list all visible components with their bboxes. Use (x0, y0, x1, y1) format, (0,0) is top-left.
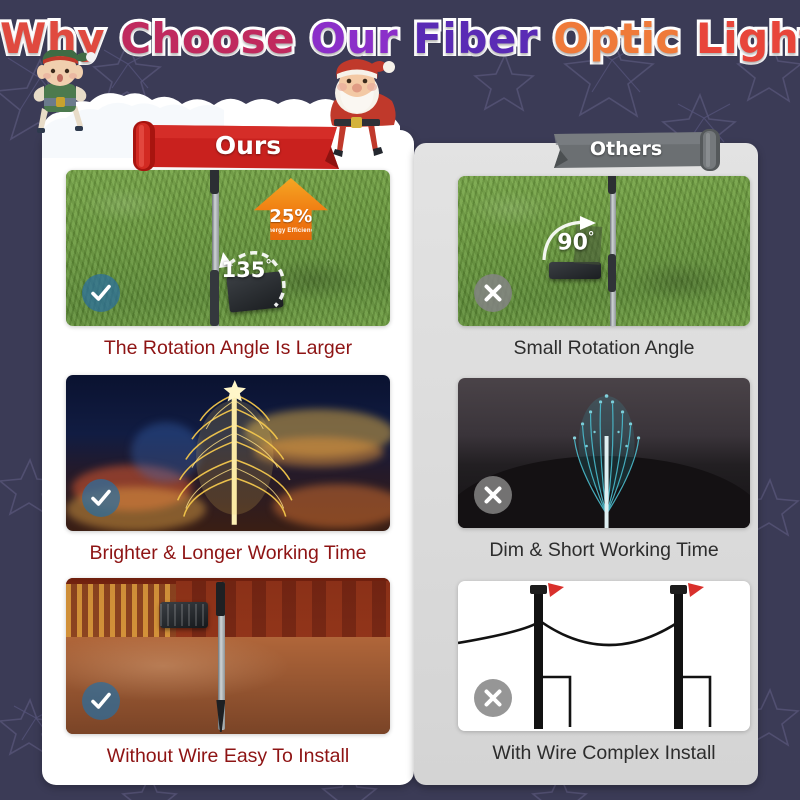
energy-percent-label: 25% (269, 208, 312, 226)
ours-row-2-photo (66, 375, 390, 531)
others-row-1-caption: Small Rotation Angle (458, 337, 750, 360)
title-space (398, 10, 413, 68)
title-space (681, 10, 696, 68)
others-row-3-caption: With Wire Complex Install (458, 742, 750, 765)
others-row-2-caption: Dim & Short Working Time (458, 539, 750, 562)
ours-angle-label: 135° (222, 258, 272, 282)
x-icon (481, 483, 505, 507)
ours-row-2: Brighter & Longer Working Time (66, 375, 390, 565)
ours-row-1-caption: The Rotation Angle Is Larger (66, 337, 390, 360)
fiber-tree-icon (157, 378, 313, 531)
x-badge (474, 476, 512, 514)
title-space (295, 10, 310, 68)
ours-row-1-photo: 135° 25% Energy Efficiency (66, 170, 390, 326)
others-row-1: 90° Small Rotation Angle (458, 176, 750, 360)
check-icon (89, 281, 113, 305)
others-banner-ribbon-icon (538, 126, 728, 172)
title-word: Optic (553, 10, 681, 68)
others-row-2: Dim & Short Working Time (458, 378, 750, 562)
solar-cell-lines (160, 604, 208, 626)
elf-character-icon (28, 50, 102, 150)
ours-row-2-caption: Brighter & Longer Working Time (66, 542, 390, 565)
check-badge (82, 682, 120, 720)
santa-character-icon (318, 57, 396, 161)
others-angle-label: 90° (557, 230, 594, 255)
x-icon (481, 686, 505, 710)
pole-top-cap (216, 582, 225, 616)
pole-joint (608, 254, 616, 292)
others-banner: Others (538, 126, 728, 172)
title-word: Lights (696, 10, 800, 68)
others-row-2-photo (458, 378, 750, 528)
ours-row-1: 135° 25% Energy Efficiency The Rotation … (66, 170, 390, 360)
page-title: Why Choose Our Fiber Optic Lights (0, 10, 800, 68)
energy-sublabel: Energy Efficiency (264, 228, 318, 234)
title-word: Choose (120, 10, 295, 68)
ours-row-3: Without Wire Easy To Install (66, 578, 390, 768)
title-space (105, 10, 120, 68)
dim-fiber-light-icon (554, 384, 659, 528)
title-word: Fiber (413, 10, 538, 68)
check-icon (89, 486, 113, 510)
title-space (538, 10, 553, 68)
others-row-3-photo (458, 581, 750, 731)
pole-top-cap (608, 176, 616, 194)
snow-ground (66, 637, 390, 734)
ours-row-3-caption: Without Wire Easy To Install (66, 745, 390, 768)
x-icon (481, 281, 505, 305)
light-pole (610, 176, 616, 326)
x-badge (474, 679, 512, 717)
wood-railing (176, 581, 390, 637)
others-row-1-photo: 90° (458, 176, 750, 326)
x-badge (474, 274, 512, 312)
check-badge (82, 479, 120, 517)
page-title-text: Why Choose Our Fiber Optic Lights (0, 10, 800, 68)
check-badge (82, 274, 120, 312)
solar-panel-box (549, 262, 601, 279)
pole-top-cap (210, 170, 219, 194)
ours-row-3-photo (66, 578, 390, 734)
check-icon (89, 689, 113, 713)
others-row-3: With Wire Complex Install (458, 581, 750, 765)
